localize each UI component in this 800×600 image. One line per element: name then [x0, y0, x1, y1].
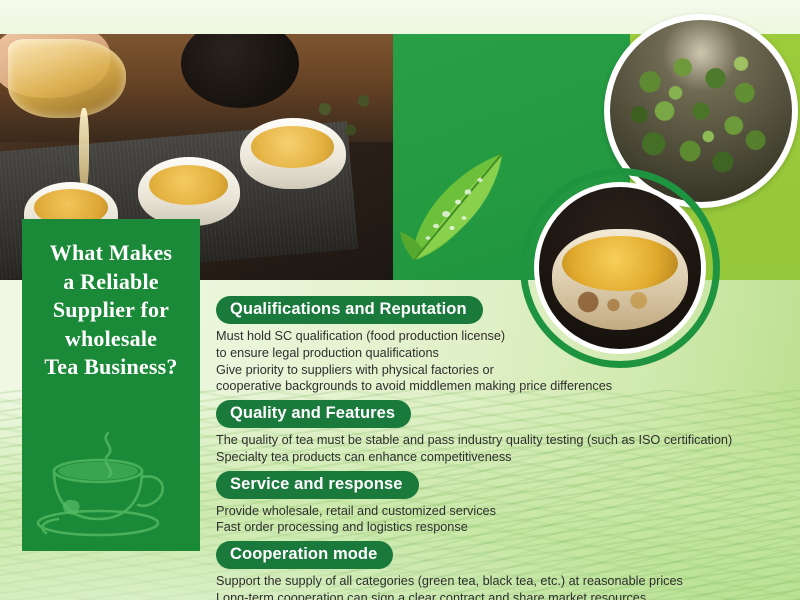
- title-line-3: Supplier for: [32, 296, 190, 325]
- body-line: to ensure legal production qualification…: [216, 345, 796, 362]
- body-line: cooperative backgrounds to avoid middlem…: [216, 378, 796, 395]
- section-service: Service and response Provide wholesale, …: [216, 471, 796, 537]
- body-line: Long-term cooperation can sign a clear c…: [216, 590, 796, 600]
- title-line-1: What Makes: [32, 239, 190, 268]
- title-line-4: wholesale: [32, 325, 190, 354]
- section-body-cooperation: Support the supply of all categories (gr…: [216, 573, 796, 600]
- section-heading-quality: Quality and Features: [216, 400, 411, 428]
- body-line: Fast order processing and logistics resp…: [216, 519, 796, 536]
- body-line: Must hold SC qualification (food product…: [216, 328, 796, 345]
- teacup-middle: [138, 157, 240, 226]
- body-line: Support the supply of all categories (gr…: [216, 573, 796, 590]
- section-heading-service: Service and response: [216, 471, 419, 499]
- section-cooperation: Cooperation mode Support the supply of a…: [216, 541, 796, 600]
- section-heading-cooperation: Cooperation mode: [216, 541, 393, 569]
- body-line: Specialty tea products can enhance compe…: [216, 449, 796, 466]
- title-panel: What Makes a Reliable Supplier for whole…: [22, 219, 200, 551]
- glass-pitcher: [8, 39, 126, 118]
- section-quality: Quality and Features The quality of tea …: [216, 400, 796, 466]
- infographic-poster: What Makes a Reliable Supplier for whole…: [0, 0, 800, 600]
- teacup-back: [240, 118, 346, 189]
- section-body-quality: The quality of tea must be stable and pa…: [216, 432, 796, 466]
- section-body-qualifications: Must hold SC qualification (food product…: [216, 328, 796, 395]
- content-sections: Qualifications and Reputation Must hold …: [216, 296, 796, 600]
- tea-stream: [79, 108, 89, 192]
- section-body-service: Provide wholesale, retail and customized…: [216, 503, 796, 537]
- section-qualifications: Qualifications and Reputation Must hold …: [216, 296, 796, 395]
- section-heading-qualifications: Qualifications and Reputation: [216, 296, 483, 324]
- tea-leaf-icon: [398, 148, 518, 266]
- title-line-5: Tea Business?: [32, 353, 190, 382]
- title-line-2: a Reliable: [32, 268, 190, 297]
- body-line: The quality of tea must be stable and pa…: [216, 432, 796, 449]
- tea-liquid: [251, 126, 334, 167]
- page-title: What Makes a Reliable Supplier for whole…: [22, 219, 200, 382]
- golden-tea-liquid: [562, 236, 679, 291]
- tea-liquid: [149, 165, 229, 205]
- teacup-line-art-icon: [36, 427, 186, 545]
- body-line: Provide wholesale, retail and customized…: [216, 503, 796, 520]
- body-line: Give priority to suppliers with physical…: [216, 362, 796, 379]
